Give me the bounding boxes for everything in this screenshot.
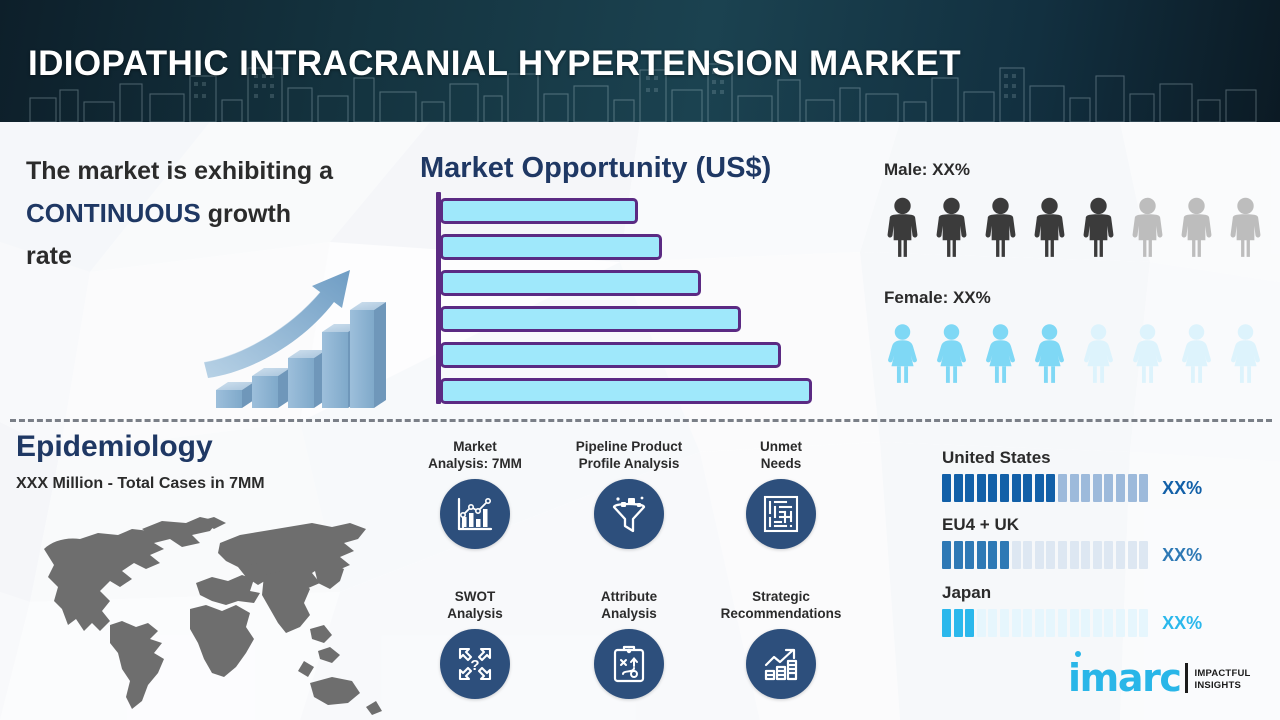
bar-segment: [1023, 609, 1032, 637]
country-value-label: XX%: [1162, 545, 1202, 566]
imarc-logo[interactable]: imarc IMPACTFUL INSIGHTS: [1068, 660, 1251, 696]
bar-segment: [1093, 541, 1102, 569]
bar-segment: [1058, 474, 1067, 502]
bar-segment: [1093, 609, 1102, 637]
bar-segment: [1046, 541, 1055, 569]
bar-segment: [988, 609, 997, 637]
bar-segment: [1128, 609, 1137, 637]
bar-segment: [1035, 609, 1044, 637]
bar-segment: [1046, 609, 1055, 637]
chart-y-axis: [436, 192, 441, 404]
bar-segment: [1128, 474, 1137, 502]
cell-label-line2: Profile Analysis: [579, 456, 680, 471]
male-figure-icon: [976, 196, 1025, 258]
bar-segment: [965, 541, 974, 569]
bar-segment: [1012, 474, 1021, 502]
bar-segment: [1046, 474, 1055, 502]
header-banner: IDIOPATHIC INTRACRANIAL HYPERTENSION MAR…: [0, 0, 1280, 122]
bar-segment: [942, 541, 951, 569]
male-figure-icon: [878, 196, 927, 258]
analysis-cell-swot[interactable]: SWOTAnalysis ?: [400, 588, 550, 699]
cell-label-line1: Market: [453, 439, 497, 454]
female-figure-icon: [976, 322, 1025, 384]
section-divider: [10, 419, 1272, 422]
cell-label-line1: Pipeline Product: [576, 439, 683, 454]
male-figure-icon: [1221, 196, 1270, 258]
country-name: United States: [942, 448, 1272, 468]
maze-icon[interactable]: [746, 479, 816, 549]
bar-segment: [1023, 474, 1032, 502]
bar-segment: [1139, 474, 1148, 502]
bar-segment: [1035, 541, 1044, 569]
bar-segment: [1000, 541, 1009, 569]
bar-segment: [1081, 474, 1090, 502]
swot-arrows-question-icon[interactable]: ?: [440, 629, 510, 699]
logo-tagline: IMPACTFUL INSIGHTS: [1195, 668, 1251, 692]
chart-bar: [440, 306, 741, 332]
intro-line-3: rate: [26, 242, 72, 270]
male-figure-icon: [927, 196, 976, 258]
bar-chart-trend-icon[interactable]: [440, 479, 510, 549]
cell-label-line1: Attribute: [601, 589, 657, 604]
growth-chart-arrow-icon: [192, 252, 392, 412]
male-figure-icon: [1123, 196, 1172, 258]
analysis-cell-attribute[interactable]: AttributeAnalysis: [554, 588, 704, 699]
svg-text:?: ?: [470, 657, 479, 674]
male-figure-icon: [1074, 196, 1123, 258]
country-value-label: XX%: [1162, 478, 1202, 499]
cell-label-line2: Analysis: [601, 606, 657, 621]
bar-segment: [1139, 609, 1148, 637]
intro-highlight: CONTINUOUS: [26, 198, 201, 228]
bar-segment: [1070, 541, 1079, 569]
bar-segment: [1070, 474, 1079, 502]
cell-label-line2: Needs: [761, 456, 802, 471]
cell-label-line2: Analysis: 7MM: [428, 456, 522, 471]
bar-segment: [1058, 541, 1067, 569]
logo-divider: [1185, 663, 1188, 693]
female-figure-icon: [927, 322, 976, 384]
country-name: EU4 + UK: [942, 515, 1272, 535]
epidemiology-title: Epidemiology: [16, 430, 213, 464]
chart-bar: [440, 198, 638, 224]
bar-segment: [1139, 541, 1148, 569]
bar-segment: [1081, 541, 1090, 569]
epidemiology-subtitle: XXX Million - Total Cases in 7MM: [16, 475, 265, 493]
country-row-united-states: United States XX%: [942, 448, 1272, 502]
female-figure-icon: [1172, 322, 1221, 384]
country-segment-bar: [942, 541, 1148, 569]
bar-segment: [1104, 474, 1113, 502]
intro-line-1: The market is exhibiting a: [26, 157, 333, 185]
cell-label-line2: Recommendations: [721, 606, 842, 621]
female-figure-icon: [1074, 322, 1123, 384]
infographic-page: IDIOPATHIC INTRACRANIAL HYPERTENSION MAR…: [0, 0, 1280, 720]
cell-label-line1: SWOT: [455, 589, 496, 604]
bar-segment: [942, 474, 951, 502]
analysis-cell-pipeline-product[interactable]: Pipeline ProductProfile Analysis: [554, 438, 704, 549]
female-figure-icon: [1123, 322, 1172, 384]
bar-segment: [965, 609, 974, 637]
cell-label-line1: Unmet: [760, 439, 802, 454]
bar-segment: [1104, 609, 1113, 637]
male-figure-icon: [1172, 196, 1221, 258]
female-figure-icon: [1221, 322, 1270, 384]
female-figure-icon: [1025, 322, 1074, 384]
country-row-eu4-uk: EU4 + UK XX%: [942, 515, 1272, 569]
bar-segment: [1081, 609, 1090, 637]
intro-line-2-rest: growth: [201, 200, 291, 228]
country-value-label: XX%: [1162, 613, 1202, 634]
cell-label-line1: Strategic: [752, 589, 810, 604]
female-figure-icon: [878, 322, 927, 384]
male-pictogram-row: [878, 196, 1270, 258]
clipboard-strategy-icon[interactable]: [594, 629, 664, 699]
male-label: Male: XX%: [884, 160, 970, 180]
chart-bar: [440, 270, 701, 296]
female-pictogram-row: [878, 322, 1270, 384]
bar-segment: [977, 474, 986, 502]
growth-bars-arrow-icon[interactable]: [746, 629, 816, 699]
bar-segment: [1035, 474, 1044, 502]
bar-segment: [977, 541, 986, 569]
market-opportunity-title: Market Opportunity (US$): [420, 152, 771, 185]
country-row-japan: Japan XX%: [942, 583, 1272, 637]
bar-segment: [1012, 609, 1021, 637]
bar-segment: [1000, 474, 1009, 502]
bar-segment: [988, 474, 997, 502]
bar-segment: [1023, 541, 1032, 569]
bar-segment: [1070, 609, 1079, 637]
chart-bar: [440, 342, 781, 368]
bar-segment: [988, 541, 997, 569]
bar-segment: [942, 609, 951, 637]
page-title: IDIOPATHIC INTRACRANIAL HYPERTENSION MAR…: [28, 44, 961, 84]
bar-segment: [965, 474, 974, 502]
market-opportunity-chart: [436, 192, 836, 404]
bar-segment: [1000, 609, 1009, 637]
bar-segment: [954, 609, 963, 637]
country-name: Japan: [942, 583, 1272, 603]
analysis-cell-market-analysis[interactable]: MarketAnalysis: 7MM: [400, 438, 550, 549]
logo-tagline-line1: IMPACTFUL: [1195, 668, 1251, 680]
bar-segment: [1012, 541, 1021, 569]
bar-segment: [1116, 609, 1125, 637]
bar-segment: [1116, 541, 1125, 569]
world-map-icon: [14, 505, 414, 717]
male-figure-icon: [1025, 196, 1074, 258]
female-label: Female: XX%: [884, 288, 991, 308]
bar-segment: [954, 474, 963, 502]
bar-segment: [954, 541, 963, 569]
bar-segment: [977, 609, 986, 637]
analysis-cell-strategic[interactable]: StrategicRecommendations: [706, 588, 856, 699]
analysis-cell-unmet-needs[interactable]: UnmetNeeds: [706, 438, 856, 549]
country-segment-bar: [942, 474, 1148, 502]
logo-tagline-line2: INSIGHTS: [1195, 680, 1251, 692]
bar-segment: [1058, 609, 1067, 637]
bar-segment: [1093, 474, 1102, 502]
cell-label-line2: Analysis: [447, 606, 503, 621]
logo-wordmark: imarc: [1068, 660, 1181, 696]
logo-dot-icon: [1075, 651, 1081, 657]
bar-segment: [1128, 541, 1137, 569]
chart-bar: [440, 378, 812, 404]
bar-segment: [1104, 541, 1113, 569]
chart-bar: [440, 234, 662, 260]
bar-segment: [1116, 474, 1125, 502]
funnel-icon[interactable]: [594, 479, 664, 549]
country-segment-bar: [942, 609, 1148, 637]
